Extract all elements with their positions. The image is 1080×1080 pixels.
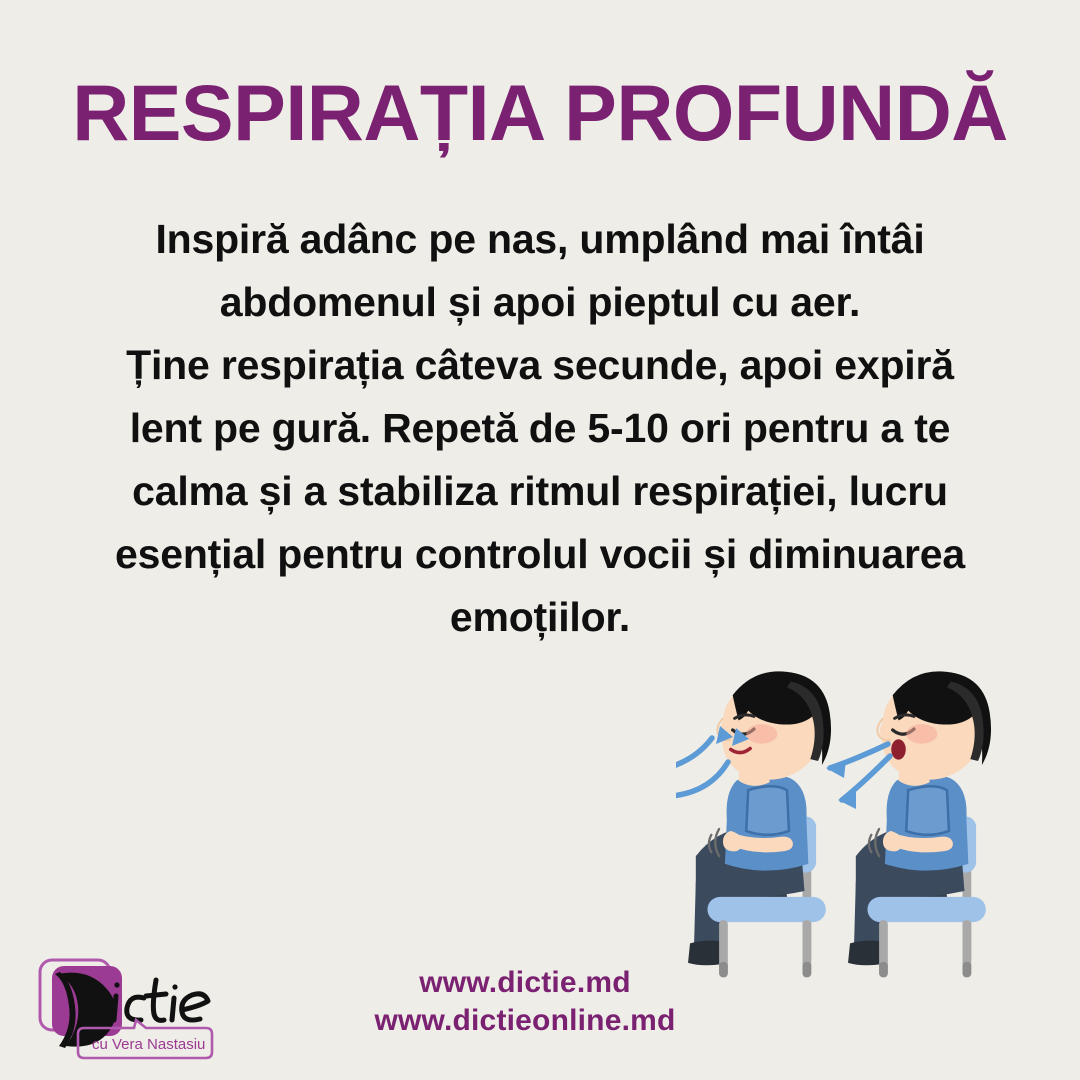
url-primary[interactable]: www.dictie.md xyxy=(300,964,750,1002)
website-urls: www.dictie.md www.dictieonline.md xyxy=(300,964,750,1040)
url-secondary[interactable]: www.dictieonline.md xyxy=(300,1002,750,1040)
inhale-arrows xyxy=(676,738,728,796)
exhale-figure xyxy=(848,671,991,977)
poster-canvas: RESPIRAȚIA PROFUNDĂ Inspiră adânc pe nas… xyxy=(0,0,1080,1080)
brand-logo[interactable]: cu Vera Nastasiu xyxy=(34,952,270,1064)
page-title: RESPIRAȚIA PROFUNDĂ xyxy=(0,72,1080,155)
body-line-5: calma și a stabiliza ritmul respirației,… xyxy=(52,460,1028,523)
breathing-illustration xyxy=(676,648,1044,980)
body-line-2: abdomenul și apoi pieptul cu aer. xyxy=(52,271,1028,334)
logo-wordmark xyxy=(114,980,208,1020)
body-copy: Inspiră adânc pe nas, umplând mai întâi … xyxy=(52,208,1028,649)
body-line-3: Ține respirația câteva secunde, apoi exp… xyxy=(52,334,1028,397)
body-line-1: Inspiră adânc pe nas, umplând mai întâi xyxy=(52,208,1028,271)
body-line-4: lent pe gură. Repetă de 5-10 ori pentru … xyxy=(52,397,1028,460)
inhale-figure xyxy=(688,671,831,977)
body-line-6: esențial pentru controlul vocii și dimin… xyxy=(52,523,1028,586)
logo-tagline-text: cu Vera Nastasiu xyxy=(92,1036,205,1053)
body-line-7: emoțiilor. xyxy=(52,586,1028,649)
